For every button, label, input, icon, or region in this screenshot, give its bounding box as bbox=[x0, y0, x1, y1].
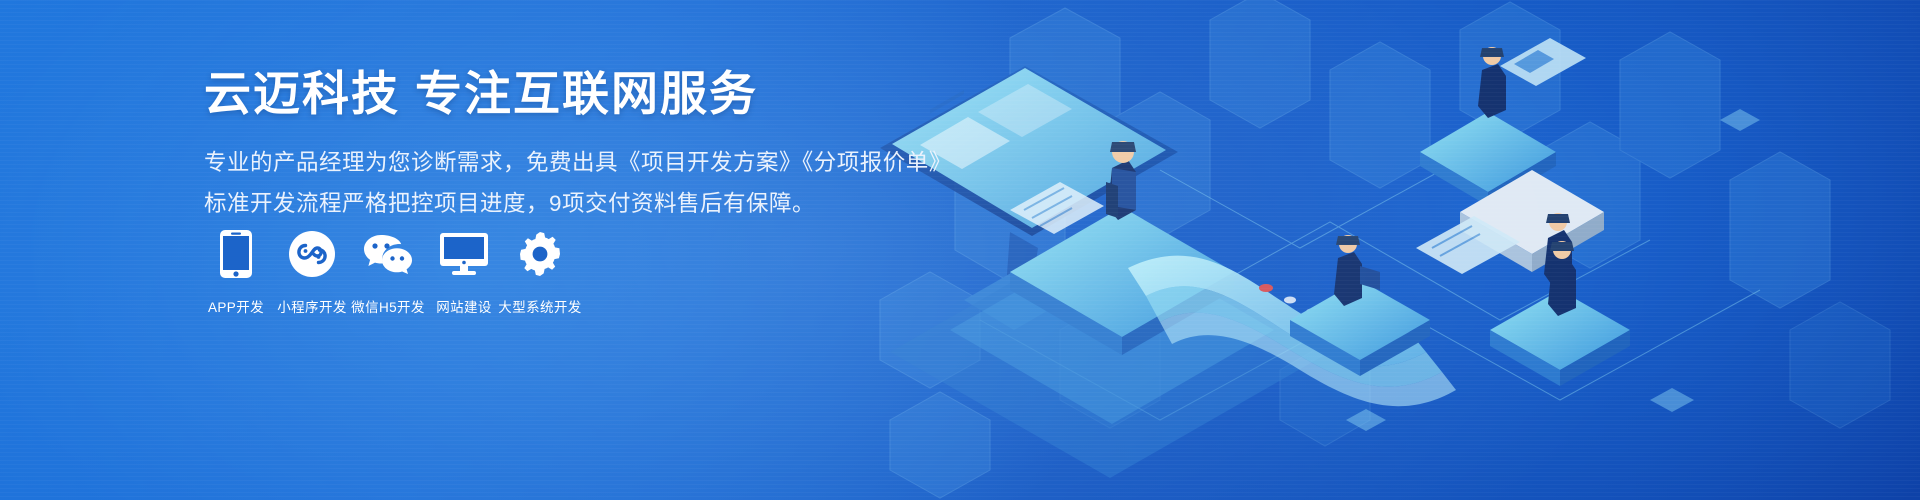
service-label: APP开发 bbox=[208, 296, 264, 316]
banner-subtitle: 专业的产品经理为您诊断需求，免费出具《项目开发方案》《分项报价单》 标准开发流程… bbox=[204, 142, 904, 224]
service-label: 大型系统开发 bbox=[498, 296, 581, 316]
service-label: 网站建设 bbox=[436, 296, 492, 316]
service-item-wechat-h5[interactable]: 微信H5开发 bbox=[352, 228, 424, 316]
service-item-app[interactable]: APP开发 bbox=[200, 228, 272, 316]
gear-icon bbox=[514, 228, 566, 280]
page-title: 云迈科技 专注互联网服务 bbox=[204, 66, 904, 122]
service-item-website[interactable]: 网站建设 bbox=[428, 228, 500, 316]
service-item-large-system[interactable]: 大型系统开发 bbox=[504, 228, 576, 316]
wechat-icon bbox=[362, 228, 414, 280]
service-item-miniprogram[interactable]: 小程序开发 bbox=[276, 228, 348, 316]
subtitle-line-1: 专业的产品经理为您诊断需求，免费出具《项目开发方案》《分项报价单》 bbox=[204, 142, 904, 183]
subtitle-line-2: 标准开发流程严格把控项目进度，9项交付资料售后有保障。 bbox=[204, 183, 904, 224]
mobile-phone-icon bbox=[210, 228, 262, 280]
service-list: APP开发 小程序开发 bbox=[200, 228, 576, 316]
banner-copy: 云迈科技 专注互联网服务 专业的产品经理为您诊断需求，免费出具《项目开发方案》《… bbox=[204, 66, 904, 224]
service-label: 小程序开发 bbox=[277, 296, 347, 316]
isometric-illustration bbox=[860, 0, 1920, 500]
monitor-icon bbox=[438, 228, 490, 280]
hero-banner: 云迈科技 专注互联网服务 专业的产品经理为您诊断需求，免费出具《项目开发方案》《… bbox=[0, 0, 1920, 500]
mini-program-icon bbox=[286, 228, 338, 280]
service-label: 微信H5开发 bbox=[351, 296, 425, 316]
